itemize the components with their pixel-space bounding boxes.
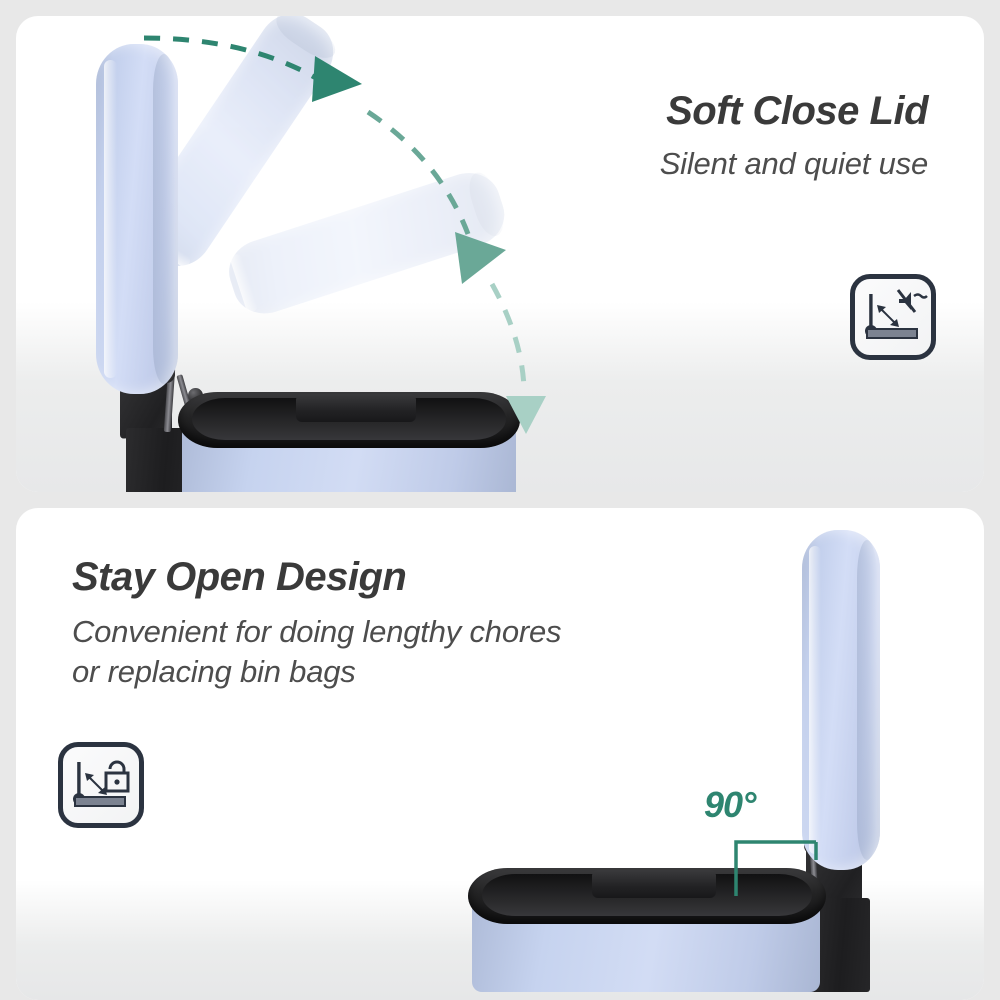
lid-position-1 [96,44,178,394]
lid-position-open-90 [802,530,880,870]
bin-rim-notch [592,870,716,898]
soft-close-text-block: Soft Close Lid Silent and quiet use [660,90,928,184]
mute-speaker-icon [898,290,927,312]
marketing-image: Soft Close Lid Silent and quiet use [0,0,1000,1000]
badge-base-bar-icon [75,797,125,806]
subtitle-stay-open: Convenient for doing lengthy chores or r… [72,612,561,693]
badge-lid-line-icon [869,294,872,328]
panel-stay-open: Stay Open Design Convenient for doing le… [16,508,984,1000]
lid-end-cap [270,16,341,65]
lid-edge-highlight [809,546,821,854]
bin-rim-notch [296,394,416,422]
panel-soft-close: Soft Close Lid Silent and quiet use [16,16,984,492]
lid-end-cap [464,169,509,240]
page-title-soft-close: Soft Close Lid [660,90,928,132]
lid-edge-highlight [104,60,117,378]
lid-end-cap [153,54,175,384]
badge-base-bar-icon [867,329,917,338]
badge-lid-line-icon [77,762,80,796]
lid-end-cap [857,540,877,860]
page-title-stay-open: Stay Open Design [72,556,561,598]
angle-label: 90° [704,784,755,826]
subtitle-soft-close: Silent and quiet use [660,144,928,184]
soft-close-badge [850,274,936,360]
stay-open-badge [58,742,144,828]
lid-position-3 [221,164,512,322]
stay-open-text-block: Stay Open Design Convenient for doing le… [72,556,561,693]
padlock-icon [106,762,128,791]
